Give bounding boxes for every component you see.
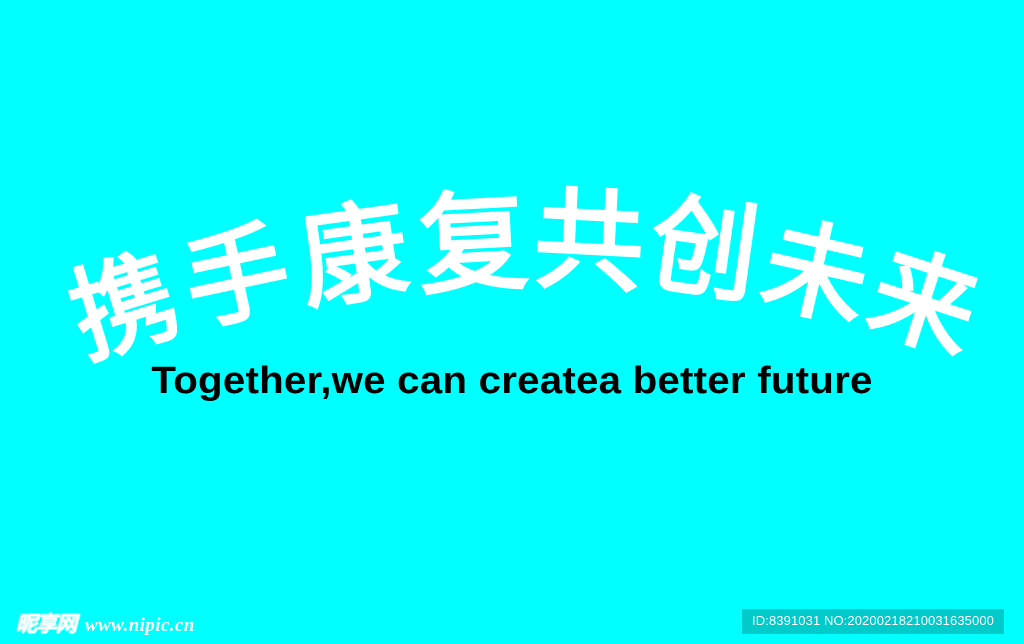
headline-char-4: 复	[415, 186, 531, 302]
nipic-url: www.nipic.cn	[85, 615, 195, 637]
headline-chinese: 携手康复共创未来	[0, 185, 1024, 360]
subtitle-english: Together,we can createa better future	[0, 358, 1024, 404]
headline-char-5: 共	[531, 184, 647, 300]
headline-char-8: 来	[858, 237, 989, 368]
poster-canvas: 携手康复共创未来 Together,we can createa better …	[0, 0, 1024, 644]
nipic-logo: 昵享网	[16, 612, 76, 636]
headline-char-3: 康	[293, 196, 415, 318]
headline-char-7: 未	[754, 211, 879, 336]
headline-character-row: 携手康复共创未来	[0, 185, 1024, 360]
watermark-brand: 昵享网 www.nipic.cn	[16, 612, 195, 637]
watermark-bar: 昵享网 www.nipic.cn ID:8391031 NO:202002182…	[0, 604, 1024, 644]
headline-char-2: 手	[175, 215, 298, 338]
headline-char-1: 携	[59, 242, 189, 372]
headline-char-6: 创	[643, 190, 765, 312]
asset-id-badge: ID:8391031 NO:20200218210031635000	[742, 609, 1004, 634]
